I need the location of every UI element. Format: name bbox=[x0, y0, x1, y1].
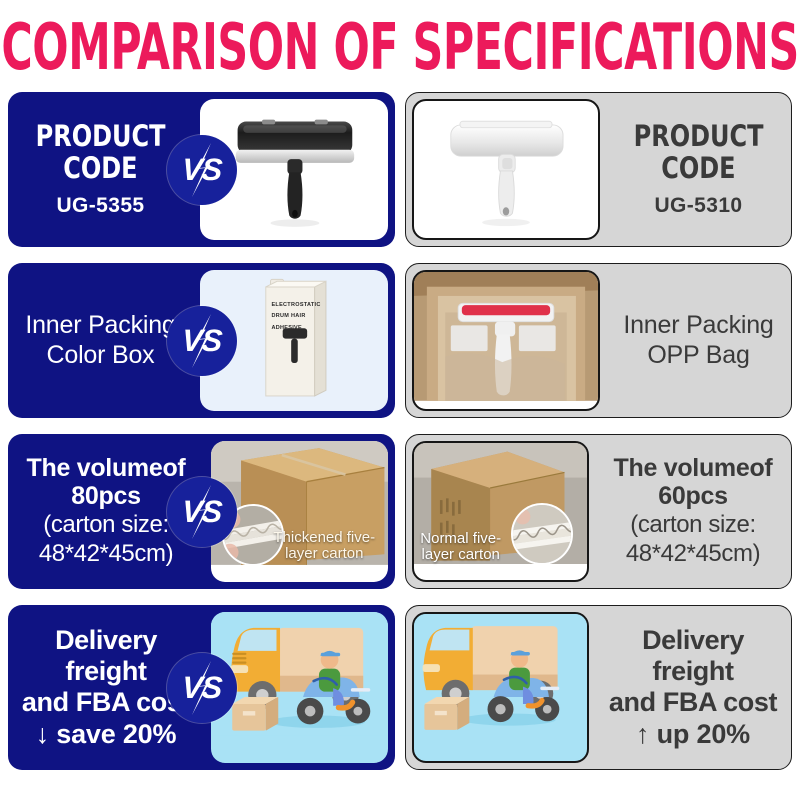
volume-left-heading-line1: The volumeof bbox=[27, 455, 186, 483]
volume-left-caption: Thickened five- layer carton bbox=[268, 530, 381, 563]
product-code-left-heading-line1: PRODUCT bbox=[36, 121, 166, 152]
comparison-infographic: COMPARISON OF SPECIFICATIONS PRODUCT COD… bbox=[0, 0, 800, 800]
product-code-left-text: PRODUCT CODE UG-5355 bbox=[8, 92, 193, 247]
volume-left-caption-line1: Thickened five- bbox=[273, 529, 375, 546]
volume-right-heading-line1: The volumeof bbox=[614, 455, 773, 483]
roller-in-opp-bag-icon bbox=[414, 272, 598, 401]
product-code-left-heading-line2: CODE bbox=[63, 153, 137, 184]
freight-right-heading-line1: Delivery freight bbox=[601, 625, 785, 687]
volume-right-text: The volumeof 60pcs (carton size: 48*42*4… bbox=[595, 435, 791, 588]
vs-badge-label: VS bbox=[181, 672, 223, 703]
row-freight: Delivery freight and FBA cost ↓ save 20% bbox=[8, 605, 792, 770]
volume-left-sub-line1: (carton size: bbox=[43, 512, 169, 539]
vs-badge-label: VS bbox=[181, 154, 223, 185]
row-product-code: PRODUCT CODE UG-5355 bbox=[8, 92, 792, 247]
delivery-truck-scooter-icon bbox=[414, 614, 587, 735]
row-volume: The volumeof 80pcs (carton size: 48*42*4… bbox=[8, 434, 792, 589]
inner-packing-right-text: Inner Packing OPP Bag bbox=[606, 264, 791, 417]
vs-badge-row3: VS bbox=[167, 477, 237, 547]
product-code-right-heading-line2: CODE bbox=[661, 153, 735, 184]
vs-badge-label: VS bbox=[181, 496, 223, 527]
freight-left-heading-line3: ↓ save 20% bbox=[36, 719, 177, 750]
package-text-line2: DRUM HAIR bbox=[271, 312, 305, 320]
product-code-right-text: PRODUCT CODE UG-5310 bbox=[606, 93, 791, 246]
row-volume-left-panel: The volumeof 80pcs (carton size: 48*42*4… bbox=[8, 434, 395, 589]
freight-right-heading-line2: and FBA cost bbox=[609, 687, 777, 718]
volume-right-image-card: Normal five- layer carton bbox=[412, 441, 589, 582]
product-code-left-value: UG-5355 bbox=[56, 194, 144, 218]
volume-left-caption-line2: layer carton bbox=[285, 545, 363, 562]
vs-badge-row2: VS bbox=[167, 306, 237, 376]
package-text-line1: ELECTROSTATIC bbox=[271, 301, 320, 309]
inner-packing-right-image-card bbox=[412, 270, 600, 411]
volume-right-caption-line2: layer carton bbox=[422, 546, 500, 563]
package-text-line3: ADHESIVE bbox=[271, 324, 302, 332]
freight-right-heading-line3: ↑ up 20% bbox=[636, 719, 750, 750]
row-product-code-right-panel: PRODUCT CODE UG-5310 bbox=[405, 92, 792, 247]
product-code-right-image-card bbox=[412, 99, 600, 240]
volume-left-image-card: Thickened five- layer carton bbox=[211, 441, 388, 582]
product-code-right-value: UG-5310 bbox=[654, 194, 742, 218]
white-lint-roller-icon bbox=[414, 101, 598, 230]
page-title: COMPARISON OF SPECIFICATIONS bbox=[1, 16, 798, 80]
vs-badge-row4: VS bbox=[167, 653, 237, 723]
carton-detail-zoom-right bbox=[511, 503, 573, 565]
volume-left-heading-line2: 80pcs bbox=[71, 483, 140, 511]
inner-packing-right-heading-line2: OPP Bag bbox=[647, 341, 749, 371]
comparison-rows: PRODUCT CODE UG-5355 bbox=[0, 92, 800, 770]
delivery-truck-scooter-icon bbox=[211, 612, 388, 736]
volume-right-sub-line1: (carton size: bbox=[630, 512, 756, 539]
freight-right-text: Delivery freight and FBA cost ↑ up 20% bbox=[595, 606, 791, 769]
inner-packing-left-heading-line1: Inner Packing bbox=[25, 311, 175, 341]
freight-right-image-card bbox=[412, 612, 589, 763]
row-volume-right-panel: Normal five- layer carton The volumeof 6… bbox=[405, 434, 792, 589]
page-title-bar: COMPARISON OF SPECIFICATIONS bbox=[0, 0, 800, 92]
inner-packing-left-text: Inner Packing Color Box bbox=[8, 263, 193, 418]
volume-right-caption: Normal five- layer carton bbox=[417, 531, 504, 564]
row-freight-left-panel: Delivery freight and FBA cost ↓ save 20% bbox=[8, 605, 395, 770]
vs-badge-label: VS bbox=[181, 325, 223, 356]
inner-packing-left-heading-line2: Color Box bbox=[47, 341, 155, 371]
corrugated-layers-icon bbox=[513, 505, 571, 563]
volume-left-sub-line2: 48*42*45cm) bbox=[39, 541, 173, 568]
row-inner-packing-right-panel: Inner Packing OPP Bag bbox=[405, 263, 792, 418]
row-product-code-left-panel: PRODUCT CODE UG-5355 bbox=[8, 92, 395, 247]
freight-left-image-card bbox=[211, 612, 388, 763]
row-freight-right-panel: Delivery freight and FBA cost ↑ up 20% bbox=[405, 605, 792, 770]
freight-left-heading-line2: and FBA cost bbox=[22, 687, 190, 718]
row-inner-packing: Inner Packing Color Box ELECTROSTATIC DR… bbox=[8, 263, 792, 418]
volume-right-heading-line2: 60pcs bbox=[658, 483, 727, 511]
row-inner-packing-left-panel: Inner Packing Color Box ELECTROSTATIC DR… bbox=[8, 263, 395, 418]
volume-right-sub-line2: 48*42*45cm) bbox=[626, 541, 760, 568]
volume-right-caption-line1: Normal five- bbox=[420, 530, 501, 547]
product-code-right-heading-line1: PRODUCT bbox=[634, 121, 764, 152]
vs-badge-row1: VS bbox=[167, 135, 237, 205]
inner-packing-right-heading-line1: Inner Packing bbox=[623, 311, 773, 341]
